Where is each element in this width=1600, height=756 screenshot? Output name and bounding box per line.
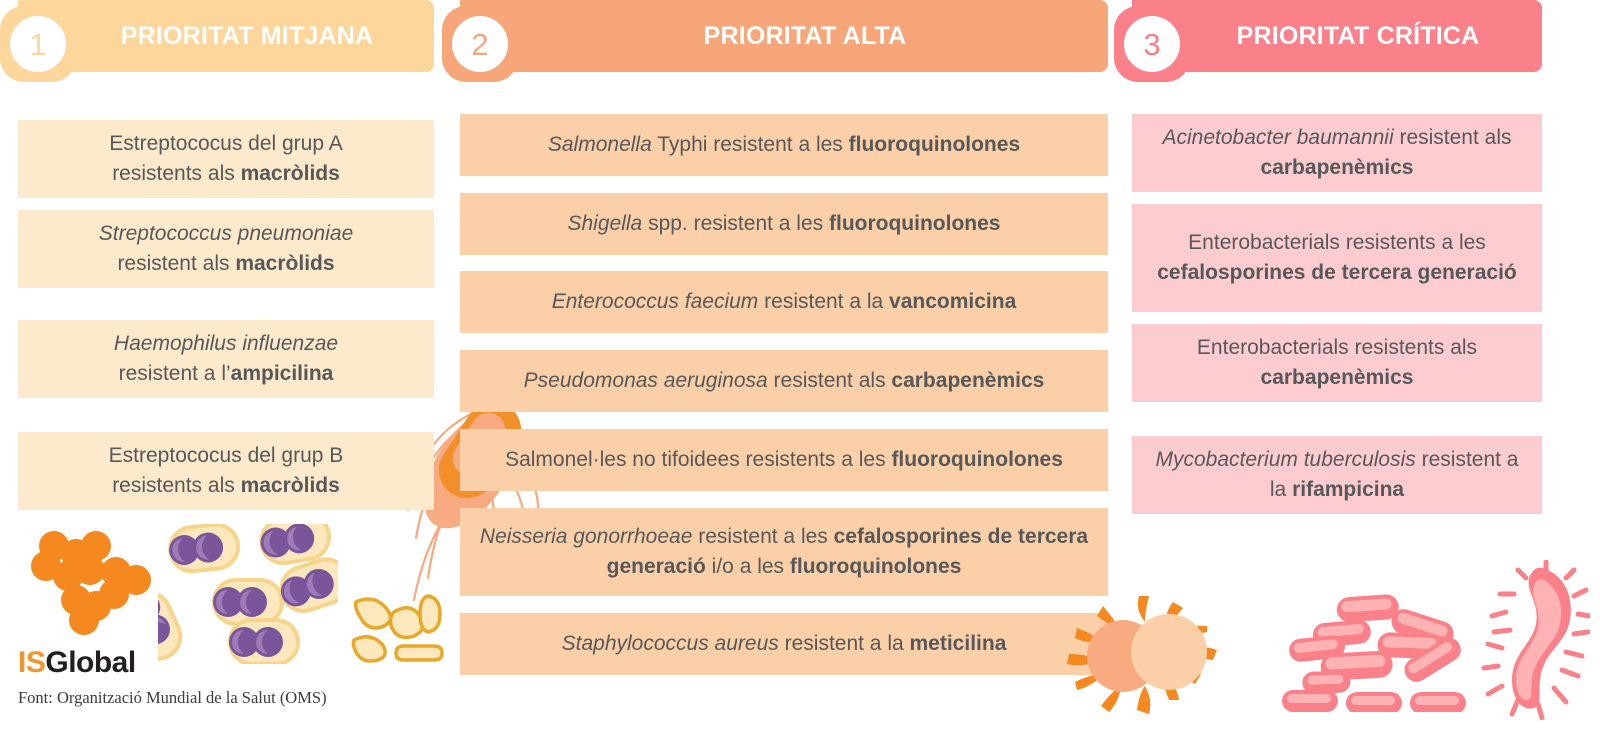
item-card[interactable]: Mycobacterium tuberculosis resistent a l…: [1132, 436, 1542, 514]
column-3-badge: 3: [1114, 6, 1190, 82]
column-2-header: 2 PRIORITAT ALTA: [460, 0, 1108, 72]
pink-curved-pili-bacterium-illustration: [1470, 560, 1590, 720]
column-3-title: PRIORITAT CRÍTICA: [1181, 22, 1494, 51]
item-text: Streptococcus pneumoniaeresistent als ma…: [99, 219, 354, 279]
item-card[interactable]: Neisseria gonorrhoeae resistent a les ce…: [460, 508, 1108, 596]
item-text: Enterococcus faecium resistent a la vanc…: [552, 287, 1017, 317]
footer: ISGlobal Font: Organització Mundial de l…: [18, 648, 327, 708]
column-1-number: 1: [10, 16, 66, 72]
item-card[interactable]: Estreptococus del grup Bresistents als m…: [18, 432, 434, 510]
item-card[interactable]: Shigella spp. resistent a les fluoroquin…: [460, 193, 1108, 255]
item-text: Staphylococcus aureus resistent a la met…: [562, 629, 1007, 659]
pink-rod-bacteria-illustration: [1278, 592, 1488, 712]
item-card[interactable]: Acinetobacter baumannii resistent als ca…: [1132, 114, 1542, 192]
column-3-number: 3: [1124, 16, 1180, 72]
item-card[interactable]: Enterococcus faecium resistent a la vanc…: [460, 271, 1108, 333]
item-text: Estreptococus del grup Bresistents als m…: [109, 441, 344, 501]
infographic-canvas: 1 PRIORITAT MITJANA Estreptococus del gr…: [0, 0, 1600, 756]
item-text: Salmonella Typhi resistent a les fluoroq…: [548, 130, 1020, 160]
column-priority-mitjana: 1 PRIORITAT MITJANA Estreptococus del gr…: [18, 0, 434, 72]
source-note: Font: Organització Mundial de la Salut (…: [18, 688, 327, 708]
column-2-number: 2: [452, 16, 508, 72]
item-text: Enterobacterials resistents als carbapen…: [1148, 333, 1526, 393]
item-card[interactable]: Streptococcus pneumoniaeresistent als ma…: [18, 210, 434, 288]
item-text: Estreptococus del grup Aresistents als m…: [109, 129, 342, 189]
item-text: Pseudomonas aeruginosa resistent als car…: [524, 366, 1045, 396]
column-2-title: PRIORITAT ALTA: [648, 22, 921, 51]
cream-curved-rods-illustration: [348, 588, 448, 668]
column-1-header: 1 PRIORITAT MITJANA: [18, 0, 434, 72]
logo-is-text: IS: [18, 646, 45, 679]
purple-diplococci-capsule-illustration: [158, 524, 338, 664]
item-text: Salmonel·les no tifoidees resistents a l…: [505, 445, 1063, 475]
item-card[interactable]: Estreptococus del grup Aresistents als m…: [18, 120, 434, 198]
item-card[interactable]: Enterobacterials resistents als carbapen…: [1132, 324, 1542, 402]
item-text: Mycobacterium tuberculosis resistent a l…: [1148, 445, 1526, 505]
item-card[interactable]: Enterobacterials resistents a les cefalo…: [1132, 204, 1542, 312]
item-card[interactable]: Staphylococcus aureus resistent a la met…: [460, 613, 1108, 675]
column-1-badge: 1: [0, 6, 76, 82]
item-text: Shigella spp. resistent a les fluoroquin…: [568, 209, 1001, 239]
item-card[interactable]: Salmonel·les no tifoidees resistents a l…: [460, 429, 1108, 491]
isglobal-logo: ISGlobal: [18, 648, 327, 678]
item-card[interactable]: Pseudomonas aeruginosa resistent als car…: [460, 350, 1108, 412]
column-priority-critica: 3 PRIORITAT CRÍTICA Acinetobacter bauman…: [1132, 0, 1542, 72]
item-card[interactable]: Salmonella Typhi resistent a les fluoroq…: [460, 114, 1108, 176]
item-text: Acinetobacter baumannii resistent als ca…: [1148, 123, 1526, 183]
item-text: Neisseria gonorrhoeae resistent a les ce…: [476, 522, 1092, 582]
column-3-header: 3 PRIORITAT CRÍTICA: [1132, 0, 1542, 72]
item-card[interactable]: Haemophilus influenzaeresistent a l’ampi…: [18, 320, 434, 398]
column-priority-alta: 2 PRIORITAT ALTA Salmonella Typhi resist…: [460, 0, 1108, 72]
orange-cocci-cluster-illustration: [28, 528, 153, 653]
column-1-title: PRIORITAT MITJANA: [65, 22, 387, 51]
item-text: Haemophilus influenzaeresistent a l’ampi…: [114, 329, 338, 389]
item-text: Enterobacterials resistents a les cefalo…: [1148, 228, 1526, 288]
column-2-badge: 2: [442, 6, 518, 82]
logo-global-text: Global: [45, 646, 135, 679]
